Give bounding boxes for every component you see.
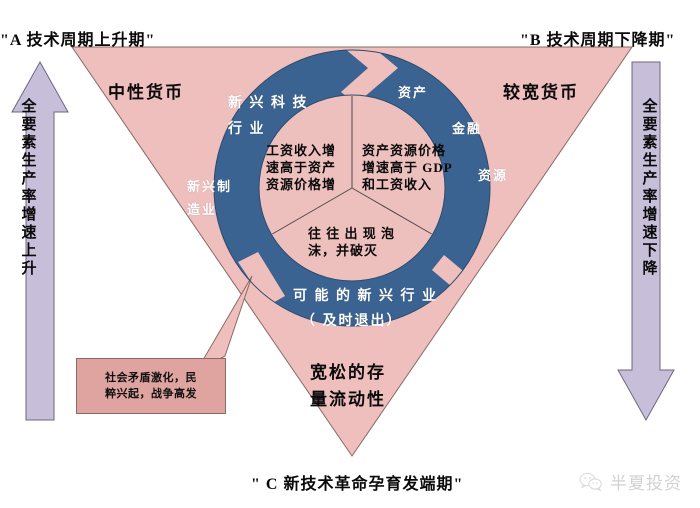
sector-asset-resource-price-line3: 和工资收入 <box>362 176 453 193</box>
callout-text: 社会矛盾激化，民 粹兴起，战争高发 <box>105 370 197 403</box>
sector-bubble-burst-line1: 往 往 出 现 泡 <box>308 225 395 242</box>
sector-wage-income: 工资收入增 速高于资产 资源价格增 <box>266 142 336 193</box>
sector-asset-resource-price-line2: 增速高于 GDP <box>362 159 453 176</box>
sector-bubble-burst-line2: 沫，并破灭 <box>308 242 395 259</box>
title-top-right: "B 技术周期下降期" <box>520 26 675 50</box>
sector-wage-income-line1: 工资收入增 <box>266 142 336 159</box>
ring-label-resources: 资源 <box>478 165 508 184</box>
sector-bubble-burst: 往 往 出 现 泡 沫，并破灭 <box>308 225 395 259</box>
title-bottom: " C 新技术革命孕育发端期" <box>251 470 463 494</box>
wechat-icon <box>579 472 603 492</box>
watermark: 半夏投资 <box>579 469 682 494</box>
ring-label-emerging-tech-line1: 新 兴 科 技 <box>228 92 309 112</box>
callout-line1: 社会矛盾激化，民 <box>105 370 197 387</box>
ring-label-emerging-manufacturing-line1: 新兴制 <box>187 176 232 195</box>
label-looser-money: 较宽货币 <box>503 78 579 103</box>
title-top-left: "A 技术周期上升期" <box>0 26 155 50</box>
sector-asset-resource-price: 资产资源价格 增速高于 GDP 和工资收入 <box>362 142 453 193</box>
sector-asset-resource-price-line1: 资产资源价格 <box>362 142 453 159</box>
callout-line2: 粹兴起，战争高发 <box>105 386 197 403</box>
ring-label-emerging-tech-line2: 行 业 <box>228 118 266 138</box>
watermark-label: 半夏投资 <box>610 469 682 494</box>
diagram-canvas: "A 技术周期上升期" "B 技术周期下降期" " C 新技术革命孕育发端期" … <box>0 0 700 508</box>
ring-label-possible-emerging-line1: 可 能 的 新 兴 行 业 <box>293 285 438 305</box>
ring-label-possible-emerging-line2: （ 及时退出） <box>301 310 403 330</box>
label-loose-stock-liquidity-line1: 宽松的存 <box>310 358 386 383</box>
label-neutral-money: 中性货币 <box>108 78 184 103</box>
callout-box: 社会矛盾激化，民 粹兴起，战争高发 <box>76 358 226 414</box>
sector-wage-income-line3: 资源价格增 <box>266 176 336 193</box>
sector-wage-income-line2: 速高于资产 <box>266 159 336 176</box>
label-loose-stock-liquidity-line2: 量流动性 <box>310 385 386 410</box>
ring-label-assets: 资产 <box>398 82 428 101</box>
ring-label-emerging-manufacturing-line2: 造业 <box>187 199 217 218</box>
ring-label-finance: 金融 <box>452 118 482 137</box>
left-arrow-label: 全要素生产率增速上升 <box>20 98 35 278</box>
right-arrow-label: 全要素生产率增速下降 <box>641 98 656 278</box>
